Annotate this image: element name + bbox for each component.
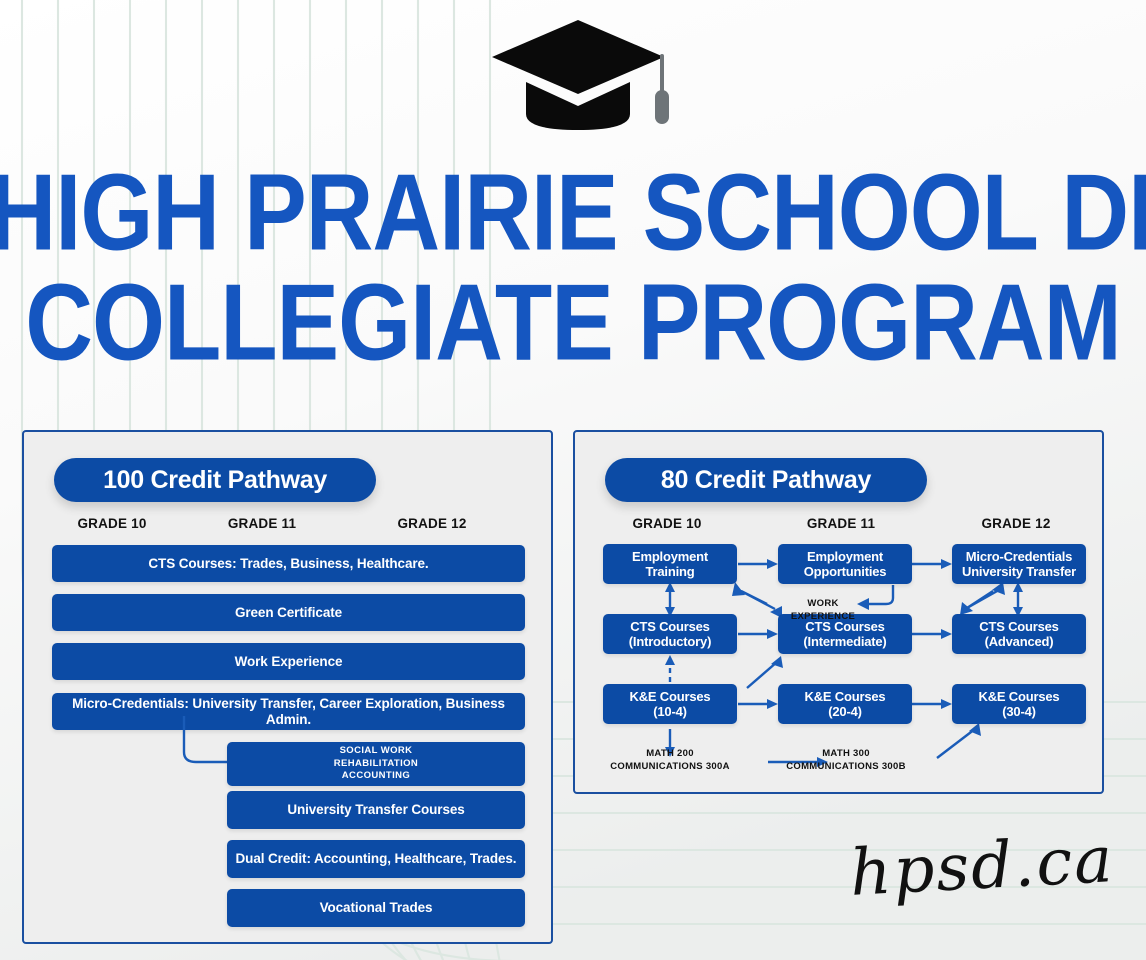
- left-row-cts-courses[interactable]: CTS Courses: Trades, Business, Healthcar…: [52, 545, 525, 582]
- node-label: Employment Training: [632, 549, 708, 579]
- annotation-work-experience: WORK EXPERIENCE: [778, 598, 868, 624]
- node-label: K&E Courses (20-4): [805, 689, 886, 719]
- page-title: HIGH PRAIRIE SCHOOL DIVISION COLLEGIATE …: [0, 160, 1146, 360]
- node-label: Employment Opportunities: [804, 549, 887, 579]
- left-grade-11-label: GRADE 11: [192, 516, 332, 531]
- node-label: K&E Courses (10-4): [630, 689, 711, 719]
- node-g10-employment-training[interactable]: Employment Training: [603, 544, 737, 584]
- left-row-university-transfer[interactable]: University Transfer Courses: [227, 791, 525, 829]
- node-g10-cts-introductory[interactable]: CTS Courses (Introductory): [603, 614, 737, 654]
- left-row-micro-credentials[interactable]: Micro-Credentials: University Transfer, …: [52, 693, 525, 730]
- left-row-vocational-trades[interactable]: Vocational Trades: [227, 889, 525, 927]
- node-g12-ke-courses[interactable]: K&E Courses (30-4): [952, 684, 1086, 724]
- title-line-2: COLLEGIATE PROGRAM: [0, 270, 1146, 376]
- node-label: CTS Courses (Introductory): [629, 619, 711, 649]
- left-row-dual-credit[interactable]: Dual Credit: Accounting, Healthcare, Tra…: [227, 840, 525, 878]
- node-label: CTS Courses (Advanced): [979, 619, 1058, 649]
- node-g12-micro-credentials[interactable]: Micro-Credentials University Transfer: [952, 544, 1086, 584]
- hpsd-logo: hpsd.ca: [848, 823, 1116, 911]
- left-row-social-work[interactable]: SOCIAL WORK REHABILITATION ACCOUNTING: [227, 742, 525, 786]
- node-g11-ke-courses[interactable]: K&E Courses (20-4): [778, 684, 912, 724]
- graduation-cap-icon: [490, 14, 670, 132]
- node-g12-cts-advanced[interactable]: CTS Courses (Advanced): [952, 614, 1086, 654]
- pill-100-credit-pathway: 100 Credit Pathway: [54, 458, 376, 502]
- annotation-math-300: MATH 300 COMMUNICATIONS 300B: [771, 748, 921, 774]
- node-g10-ke-courses[interactable]: K&E Courses (10-4): [603, 684, 737, 724]
- node-label: K&E Courses (30-4): [979, 689, 1060, 719]
- node-g11-employment-opportunities[interactable]: Employment Opportunities: [778, 544, 912, 584]
- panel-80-credit-pathway: 80 Credit Pathway GRADE 10 GRADE 11 GRAD…: [573, 430, 1104, 794]
- panel-100-credit-pathway: 100 Credit Pathway GRADE 10 GRADE 11 GRA…: [22, 430, 553, 944]
- title-line-1: HIGH PRAIRIE SCHOOL DIVISION: [0, 160, 1146, 266]
- node-label: Micro-Credentials University Transfer: [962, 549, 1076, 579]
- annotation-math-200: MATH 200 COMMUNICATIONS 300A: [595, 748, 745, 774]
- left-row-green-certificate[interactable]: Green Certificate: [52, 594, 525, 631]
- left-grade-10-label: GRADE 10: [42, 516, 182, 531]
- left-row-social-work-label: SOCIAL WORK REHABILITATION ACCOUNTING: [334, 745, 418, 783]
- left-row-work-experience[interactable]: Work Experience: [52, 643, 525, 680]
- left-grade-12-label: GRADE 12: [362, 516, 502, 531]
